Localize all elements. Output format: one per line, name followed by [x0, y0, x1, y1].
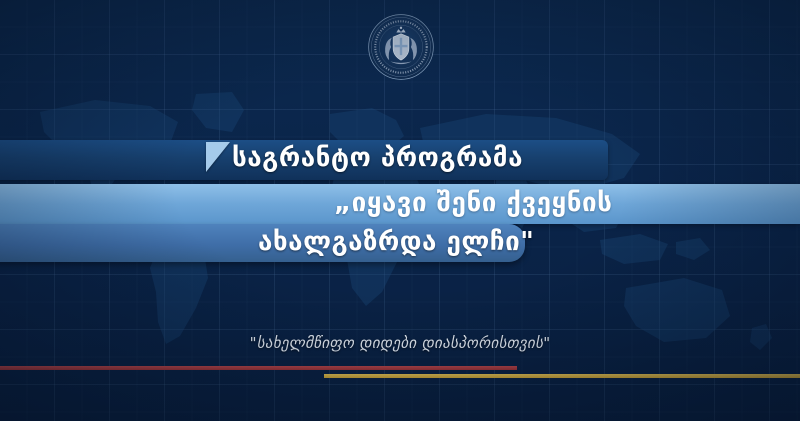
headline-line-1: საგრანტო პროგრამა	[232, 143, 523, 173]
poster-canvas: საგრანტო პროგრამა „იყავი შენი ქვეყნის ახ…	[0, 0, 800, 421]
triangle-flag-icon	[206, 142, 230, 172]
poster-tagline: "სახელმწიფო დიდები დიასპორისთვის"	[0, 334, 800, 352]
headline-line-3: ახალგაზრდა ელჩი"	[258, 227, 534, 257]
accent-rule-yellow	[324, 374, 800, 378]
headline-line-2: „იყავი შენი ქვეყნის	[334, 188, 612, 218]
accent-rule-red	[0, 366, 517, 370]
ministry-emblem	[368, 14, 434, 80]
